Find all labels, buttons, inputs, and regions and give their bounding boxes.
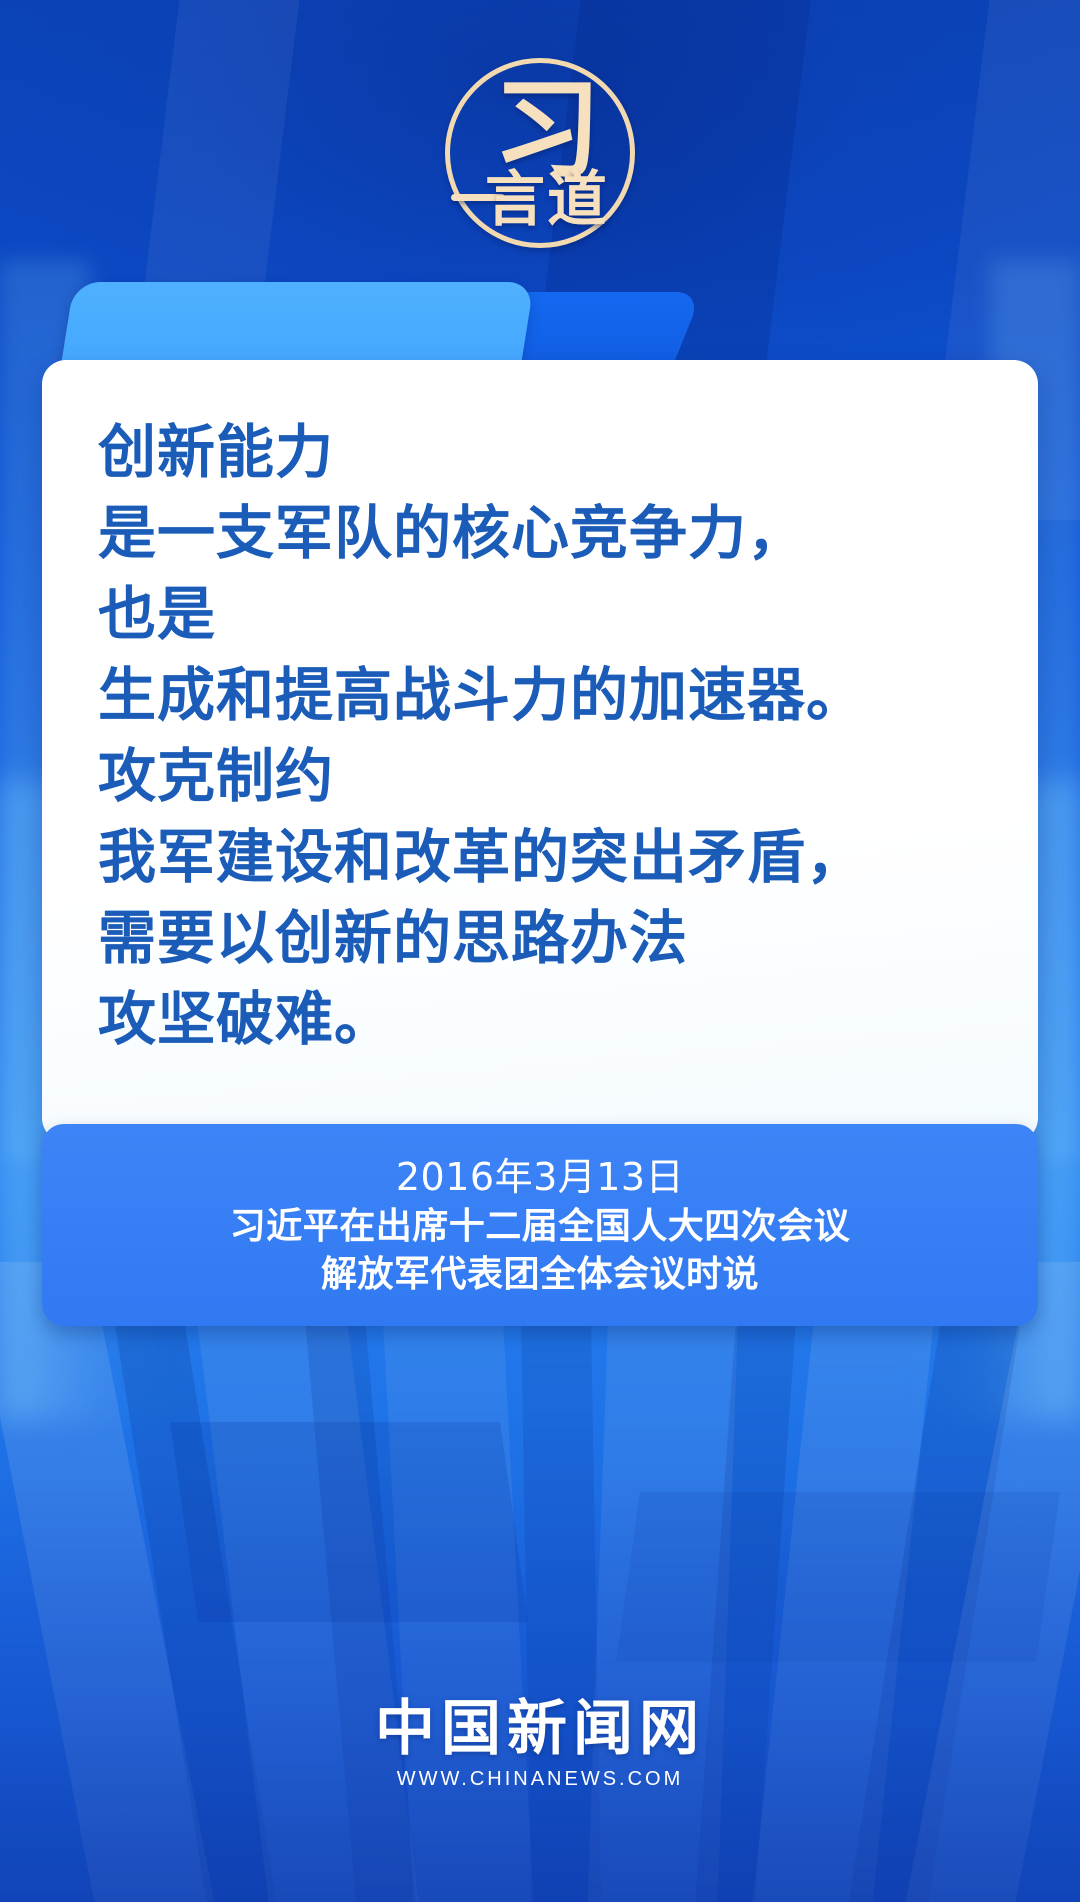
- caption-line: 习近平在出席十二届全国人大四次会议: [230, 1203, 851, 1251]
- ray: [380, 1262, 534, 1902]
- ray-block: [170, 1422, 528, 1622]
- poster-header: 习 言道: [0, 0, 1080, 275]
- quote-line: 我军建设和改革的突出矛盾，: [98, 817, 982, 898]
- poster-root: 习 言道 创新能力 是一支军队的核心竞争力， 也是 生成和提高战斗力的加速器。 …: [0, 0, 1080, 1902]
- bottom-haze: [0, 1482, 1080, 1902]
- quote-line: 是一支军队的核心竞争力，: [98, 493, 982, 574]
- quote-line: 生成和提高战斗力的加速器。: [98, 655, 982, 736]
- ray: [588, 1262, 740, 1902]
- quote-line: 也是: [98, 574, 982, 655]
- quote-line: 创新能力: [98, 412, 982, 493]
- ray: [849, 1262, 1030, 1902]
- quote-line: 攻克制约: [98, 736, 982, 817]
- ray: [300, 1262, 416, 1902]
- footer-branding: 中国新闻网 WWW.CHINANEWS.COM: [0, 1694, 1080, 1794]
- ray: [0, 1262, 214, 1902]
- source-caption: 2016年3月13日 习近平在出席十二届全国人大四次会议 解放军代表团全体会议时…: [42, 1124, 1038, 1326]
- quote-text: 创新能力 是一支军队的核心竞争力， 也是 生成和提高战斗力的加速器。 攻克制约 …: [98, 412, 982, 1060]
- quote-card: 创新能力 是一支军队的核心竞争力， 也是 生成和提高战斗力的加速器。 攻克制约 …: [42, 360, 1038, 1142]
- site-name: 中国新闻网: [0, 1694, 1080, 1764]
- ray-block: [616, 1492, 1060, 1662]
- ray: [906, 1262, 1080, 1902]
- ray: [520, 1262, 601, 1902]
- caption-line: 解放军代表团全体会议时说: [321, 1251, 759, 1299]
- quote-line: 攻坚破难。: [98, 979, 982, 1060]
- ray: [190, 1262, 419, 1902]
- ray: [105, 1262, 276, 1902]
- site-url: WWW.CHINANEWS.COM: [0, 1764, 1080, 1794]
- quote-line: 需要以创新的思路办法: [98, 898, 982, 979]
- perspective-rays: [0, 1262, 1080, 1902]
- caption-date: 2016年3月13日: [396, 1151, 684, 1203]
- logo-secondary-chars: 言道: [485, 170, 609, 230]
- ray: [753, 1262, 940, 1902]
- brand-seal-logo: 习 言道: [445, 58, 635, 248]
- ray: [695, 1262, 800, 1902]
